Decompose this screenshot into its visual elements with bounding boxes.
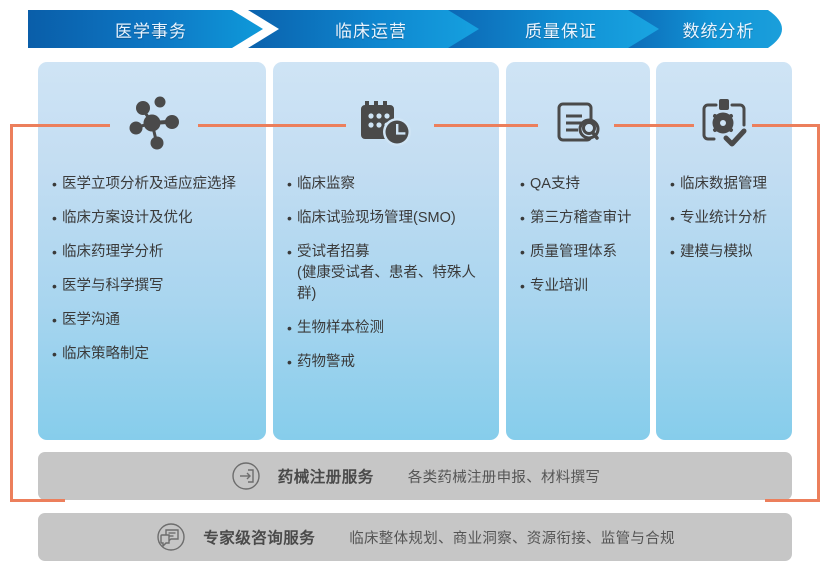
- tab-label: 质量保证: [519, 17, 597, 42]
- bullet-icon: •: [670, 174, 679, 194]
- list-item: •质量管理体系: [520, 242, 636, 263]
- login-arrow-box-icon: [230, 460, 262, 492]
- list-item-label: 医学沟通: [62, 312, 120, 328]
- bullet-icon: •: [520, 174, 529, 194]
- column-card-medical-affairs: •医学立项分析及适应症选择 •临床方案设计及优化 •临床药理学分析 •医学与科学…: [38, 62, 266, 440]
- bullet-icon: •: [520, 208, 529, 228]
- list-item: •临床试验现场管理(SMO): [287, 208, 485, 229]
- list-item: •临床策略制定: [52, 344, 252, 365]
- list-item-sublabel: (健康受试者、患者、特殊人群): [297, 263, 485, 305]
- column-card-statistics-analysis: •临床数据管理 •专业统计分析 •建模与模拟: [656, 62, 792, 440]
- list-item-label: 临床药理学分析: [62, 244, 164, 260]
- bullet-icon: •: [287, 318, 296, 338]
- connector-right-vertical: [817, 124, 820, 502]
- bullet-icon: •: [52, 310, 61, 330]
- service-bar-desc: 临床整体规划、商业洞察、资源衔接、监管与合规: [349, 527, 675, 548]
- clipboard-gear-check-icon: [656, 86, 792, 158]
- list-item: •临床监察: [287, 174, 485, 195]
- bullet-icon: •: [670, 208, 679, 228]
- service-bar-expert-consulting[interactable]: 专家级咨询服务 临床整体规划、商业洞察、资源衔接、监管与合规: [38, 513, 792, 561]
- tab-label: 医学事务: [109, 17, 187, 42]
- molecule-network-icon: [38, 86, 266, 158]
- list-item-label: 临床方案设计及优化: [62, 210, 193, 226]
- list-item-label: 质量管理体系: [530, 244, 617, 260]
- bullet-icon: •: [52, 242, 61, 262]
- list-item-label: 生物样本检测: [297, 320, 384, 336]
- document-search-icon: [506, 86, 650, 158]
- list-item-label: 第三方稽查审计: [530, 210, 632, 226]
- service-bar-title: 药械注册服务: [278, 465, 374, 487]
- list-item: •医学立项分析及适应症选择: [52, 174, 252, 195]
- connector-right-bottom: [765, 499, 820, 502]
- list-item-label: 专业统计分析: [680, 210, 767, 226]
- tab-label: 临床运营: [329, 17, 407, 42]
- list-item-label: 受试者招募: [297, 244, 370, 260]
- column-list-1: •医学立项分析及适应症选择 •临床方案设计及优化 •临床药理学分析 •医学与科学…: [38, 174, 266, 378]
- list-item: •临床方案设计及优化: [52, 208, 252, 229]
- list-item: •生物样本检测: [287, 318, 485, 339]
- list-item-label: 医学立项分析及适应症选择: [62, 176, 236, 192]
- chat-bubble-icon: [155, 521, 187, 553]
- list-item-label: 建模与模拟: [680, 244, 753, 260]
- bullet-icon: •: [287, 174, 296, 194]
- column-list-2: •临床监察 •临床试验现场管理(SMO) •受试者招募(健康受试者、患者、特殊人…: [273, 174, 499, 386]
- list-item: •专业统计分析: [670, 208, 778, 229]
- bullet-icon: •: [52, 174, 61, 194]
- tab-medical-affairs[interactable]: 医学事务: [28, 8, 268, 50]
- connector-left-bottom: [10, 499, 65, 502]
- bullet-icon: •: [52, 276, 61, 296]
- list-item: •专业培训: [520, 276, 636, 297]
- list-item-label: 临床试验现场管理(SMO): [297, 210, 456, 226]
- list-item: •药物警戒: [287, 352, 485, 373]
- list-item-label: 药物警戒: [297, 354, 355, 370]
- service-bar-title: 专家级咨询服务: [203, 526, 315, 548]
- calendar-clock-icon: [273, 86, 499, 158]
- bullet-icon: •: [52, 208, 61, 228]
- list-item-label: 临床策略制定: [62, 346, 149, 362]
- service-bar-device-registration[interactable]: 药械注册服务 各类药械注册申报、材料撰写: [38, 452, 792, 500]
- list-item: •临床药理学分析: [52, 242, 252, 263]
- infographic-root: 医学事务 临床运营 质量保证: [0, 0, 830, 571]
- bullet-icon: •: [520, 242, 529, 262]
- tab-statistics-analysis[interactable]: 数统分析: [628, 8, 803, 50]
- bullet-icon: •: [670, 242, 679, 262]
- list-item-label: 临床监察: [297, 176, 355, 192]
- list-item: •QA支持: [520, 174, 636, 195]
- list-item-label: 临床数据管理: [680, 176, 767, 192]
- list-item: •建模与模拟: [670, 242, 778, 263]
- connector-segment-3: [614, 124, 694, 127]
- column-list-4: •临床数据管理 •专业统计分析 •建模与模拟: [656, 174, 792, 276]
- service-bar-desc: 各类药械注册申报、材料撰写: [408, 466, 600, 487]
- list-item-label: QA支持: [530, 176, 580, 192]
- connector-segment-1: [198, 124, 346, 127]
- bullet-icon: •: [52, 344, 61, 364]
- list-item-label: 专业培训: [530, 278, 588, 294]
- bullet-icon: •: [287, 352, 296, 372]
- list-item: •临床数据管理: [670, 174, 778, 195]
- list-item-label: 医学与科学撰写: [62, 278, 164, 294]
- column-card-quality-assurance: •QA支持 •第三方稽查审计 •质量管理体系 •专业培训: [506, 62, 650, 440]
- process-tab-bar: 医学事务 临床运营 质量保证: [0, 8, 830, 50]
- bullet-icon: •: [520, 276, 529, 296]
- connector-left-vertical: [10, 124, 13, 502]
- tab-label: 数统分析: [677, 17, 755, 42]
- connector-segment-2: [434, 124, 538, 127]
- column-card-clinical-operations: •临床监察 •临床试验现场管理(SMO) •受试者招募(健康受试者、患者、特殊人…: [273, 62, 499, 440]
- list-item: •受试者招募(健康受试者、患者、特殊人群): [287, 242, 485, 305]
- column-list-3: •QA支持 •第三方稽查审计 •质量管理体系 •专业培训: [506, 174, 650, 310]
- connector-segment-4: [752, 124, 820, 127]
- list-item: •医学与科学撰写: [52, 276, 252, 297]
- bullet-icon: •: [287, 242, 296, 262]
- list-item: •第三方稽查审计: [520, 208, 636, 229]
- connector-segment-0: [10, 124, 110, 127]
- list-item: •医学沟通: [52, 310, 252, 331]
- bullet-icon: •: [287, 208, 296, 228]
